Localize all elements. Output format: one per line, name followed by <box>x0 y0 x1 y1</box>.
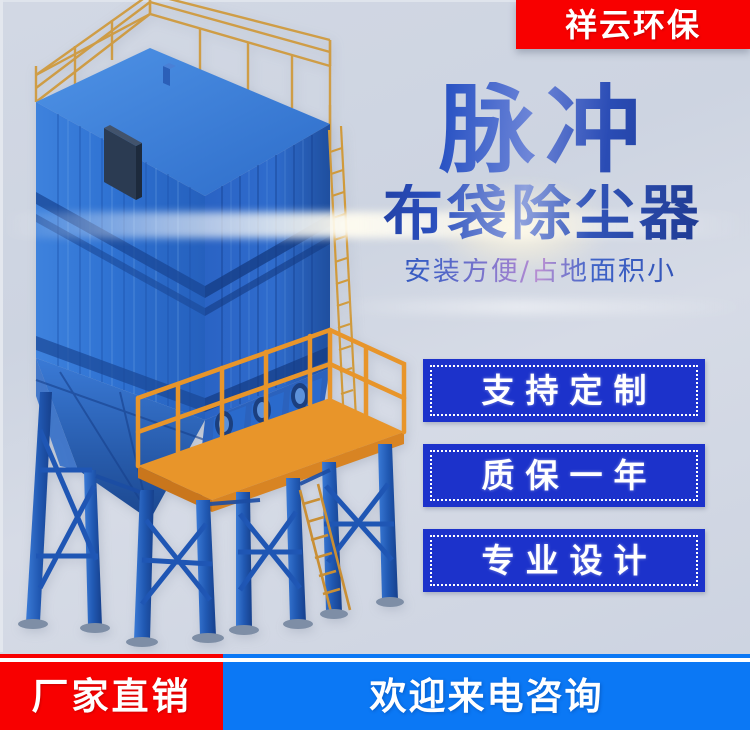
headline-main-title: 脉冲 <box>330 82 750 178</box>
feature-badge-label: 质保一年 <box>471 459 658 492</box>
brand-logo-text: 祥云环保 <box>565 9 701 41</box>
feature-badge-label: 支持定制 <box>471 374 658 407</box>
feature-badge-custom: 支持定制 <box>423 359 705 422</box>
headline-tagline: 安装方便/占地面积小 <box>330 258 750 285</box>
bottom-banner-blue-label: 欢迎来电咨询 <box>370 678 604 715</box>
bottom-banner-red-section: 厂家直销 <box>0 662 223 730</box>
feature-badge-design: 专业设计 <box>423 529 705 592</box>
bottom-banner-red-label: 厂家直销 <box>32 678 192 715</box>
poster-canvas: 祥云环保 脉冲 布袋除尘器 安装方便/占地面积小 支持定制 质保一年 专业设计 … <box>0 0 750 730</box>
feature-badge-warranty: 质保一年 <box>423 444 705 507</box>
feature-badge-label: 专业设计 <box>471 544 658 577</box>
headline-block: 脉冲 布袋除尘器 安装方便/占地面积小 <box>330 82 750 332</box>
brand-logo-banner: 祥云环保 <box>516 0 750 49</box>
bottom-banner-blue-section: 欢迎来电咨询 <box>223 662 750 730</box>
headline-sub-title: 布袋除尘器 <box>330 184 750 244</box>
bottom-banner: 厂家直销 欢迎来电咨询 <box>0 662 750 730</box>
